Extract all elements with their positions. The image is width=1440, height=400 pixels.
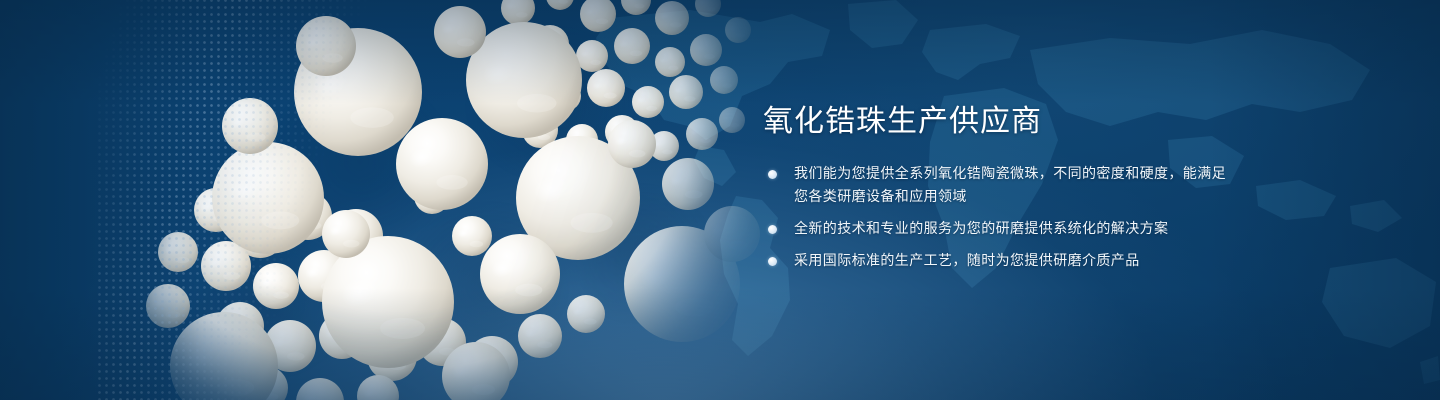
bullet-dot-icon	[768, 170, 777, 179]
feature-text: 我们能为您提供全系列氧化锆陶瓷微珠，不同的密度和硬度，能满足您各类研磨设备和应用…	[794, 165, 1226, 204]
zirconia-beads-photo	[120, 0, 780, 400]
banner-copy: 氧化锆珠生产供应商 我们能为您提供全系列氧化锆陶瓷微珠，不同的密度和硬度，能满足…	[763, 104, 1233, 272]
feature-list-item: 采用国际标准的生产工艺，随时为您提供研磨介质产品	[763, 249, 1233, 272]
feature-list-item: 我们能为您提供全系列氧化锆陶瓷微珠，不同的密度和硬度，能满足您各类研磨设备和应用…	[763, 162, 1233, 208]
feature-list: 我们能为您提供全系列氧化锆陶瓷微珠，不同的密度和硬度，能满足您各类研磨设备和应用…	[763, 162, 1233, 272]
feature-list-item: 全新的技术和专业的服务为您的研磨提供系统化的解决方案	[763, 217, 1233, 240]
feature-text: 采用国际标准的生产工艺，随时为您提供研磨介质产品	[794, 252, 1140, 268]
hero-banner: 氧化锆珠生产供应商 我们能为您提供全系列氧化锆陶瓷微珠，不同的密度和硬度，能满足…	[0, 0, 1440, 400]
bullet-dot-icon	[768, 225, 777, 234]
banner-headline: 氧化锆珠生产供应商	[763, 104, 1233, 140]
bullet-dot-icon	[768, 257, 777, 266]
feature-text: 全新的技术和专业的服务为您的研磨提供系统化的解决方案	[794, 220, 1168, 236]
